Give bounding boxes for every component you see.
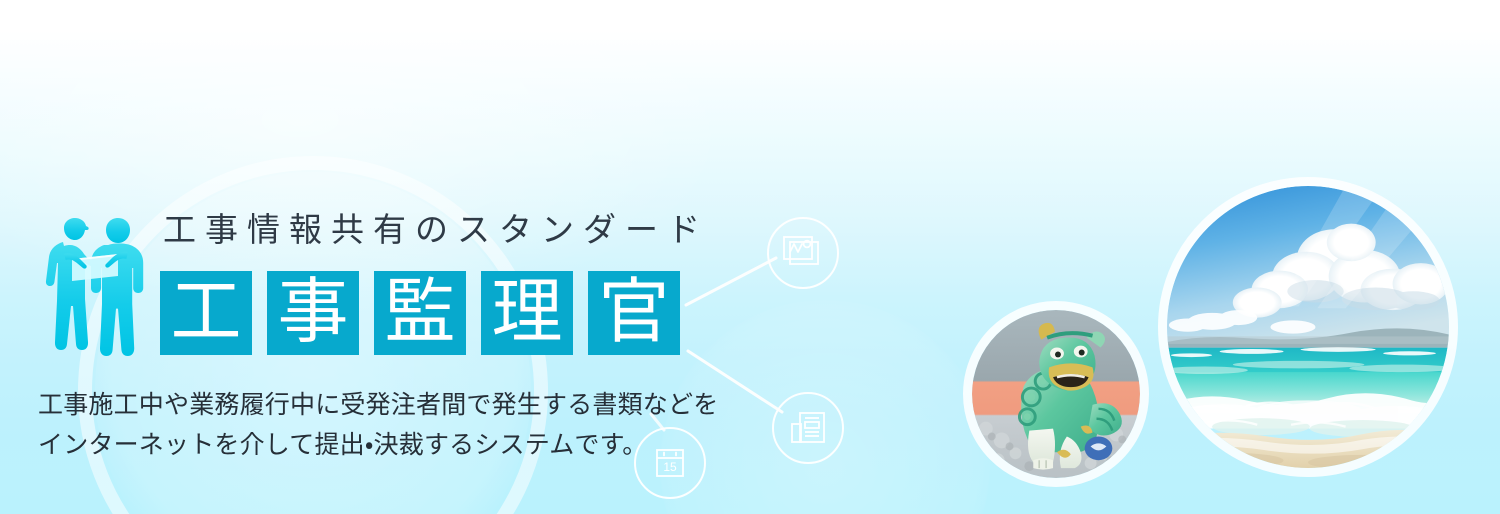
chart-presentation-icon-circle: [767, 217, 839, 289]
two-workers-illustration: [34, 214, 156, 374]
logo-tile-2: 事: [267, 271, 359, 355]
description-line-2: インターネットを介して提出・決裁するシステムです。: [38, 425, 718, 465]
okinawa-beach-photo: [1158, 177, 1458, 477]
product-logo: 工 事 監 理 官: [160, 271, 680, 355]
site-header-banner: 工事情報共有のスタンダード 工 事 監 理 官 工事施工中や業務履行中に受発注者…: [0, 0, 1500, 514]
calendar-day-number: 15: [663, 460, 677, 474]
okinawa-beach-photo-image: [1167, 186, 1449, 468]
description-line-1: 工事施工中や業務履行中に受発注者間で発生する書類などを: [38, 385, 718, 425]
logo-tile-5: 官: [588, 271, 680, 355]
shisa-statue-photo-image: [972, 310, 1140, 478]
logo-tile-1: 工: [160, 271, 252, 355]
calendar-icon-circle: 15: [634, 427, 706, 499]
logo-tile-4: 理: [481, 271, 573, 355]
banner-description: 工事施工中や業務履行中に受発注者間で発生する書類などを インターネットを介して提…: [38, 385, 718, 465]
shisa-statue-photo: [963, 301, 1149, 487]
banner-tagline: 工事情報共有のスタンダード: [163, 208, 709, 252]
documents-icon-circle: [772, 392, 844, 464]
logo-tile-3: 監: [374, 271, 466, 355]
